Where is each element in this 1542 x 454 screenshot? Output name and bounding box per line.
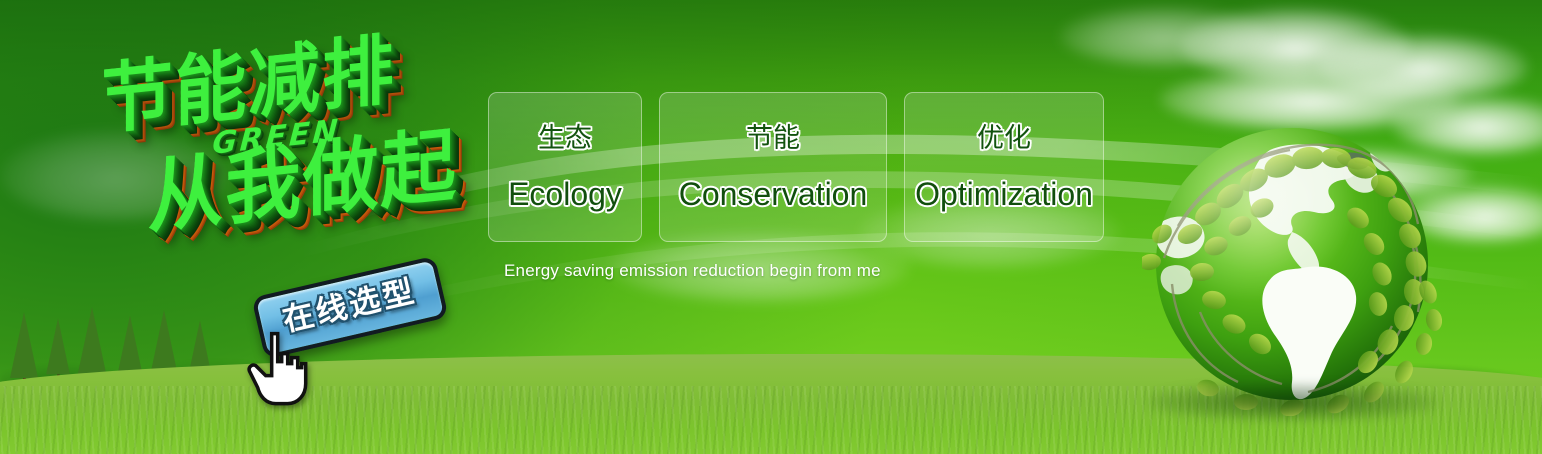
banner-tagline: Energy saving emission reduction begin f… <box>504 261 881 281</box>
card-label-zh: 优化 <box>977 125 1031 152</box>
card-label-en: Ecology <box>508 178 622 210</box>
feature-card-optimization[interactable]: 优化 Optimization <box>904 92 1104 242</box>
card-label-zh: 生态 <box>538 125 592 152</box>
feature-card-conservation[interactable]: 节能 Conservation <box>659 92 887 242</box>
leafy-earth-globe-icon <box>1142 116 1442 416</box>
card-label-en: Conservation <box>679 178 868 210</box>
globe-shadow <box>1148 382 1438 422</box>
card-label-en: Optimization <box>915 178 1093 210</box>
pointing-hand-cursor-icon <box>246 328 312 408</box>
globe-graphic <box>1142 116 1442 416</box>
eco-promo-banner: 节能减排 GREEN 从我做起 在线选型 生态 Ecology 节能 Conse… <box>0 0 1542 454</box>
feature-card-row: 生态 Ecology 节能 Conservation 优化 Optimizati… <box>488 92 1104 242</box>
card-label-zh: 节能 <box>746 125 800 152</box>
feature-card-ecology[interactable]: 生态 Ecology <box>488 92 642 242</box>
